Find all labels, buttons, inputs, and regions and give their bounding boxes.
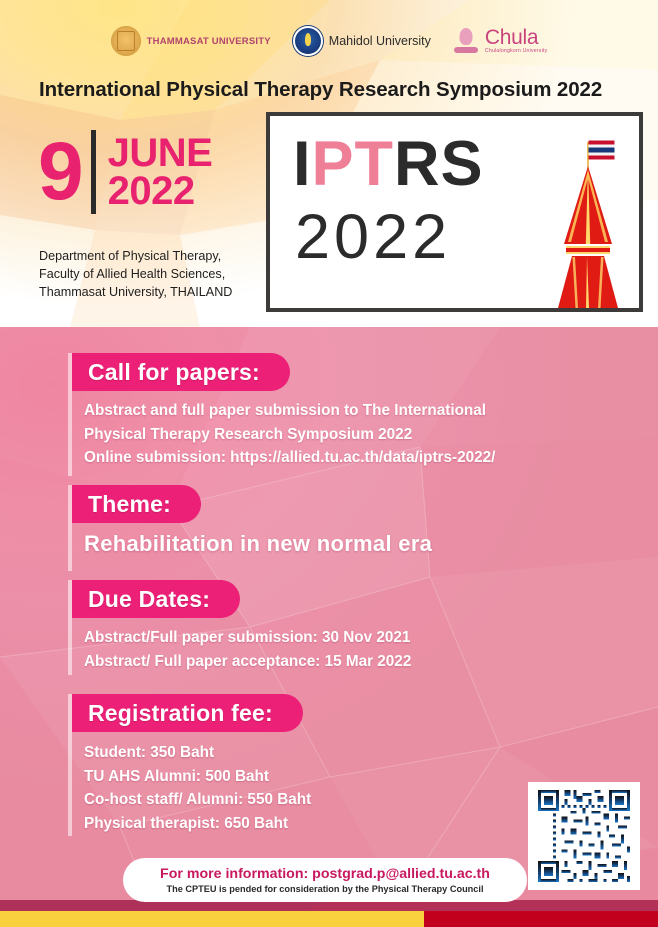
due-date-submission: Abstract/Full paper submission: 30 Nov 2… [84, 626, 411, 650]
organizer-block: Department of Physical Therapy, Faculty … [39, 248, 232, 302]
partner-logo-mahidol: Mahidol University [293, 26, 431, 56]
page-title: International Physical Therapy Research … [39, 78, 602, 102]
poster-header: THAMMASAT UNIVERSITY Mahidol University … [0, 0, 658, 327]
contact-footer: For more information: postgrad.p@allied.… [123, 858, 527, 902]
partner-logo-thammasat: THAMMASAT UNIVERSITY [111, 26, 271, 56]
partner-logo-chula: Chula Chulalongkorn University [453, 26, 547, 56]
iptrs-logo-box: IPTRS 2022 [266, 112, 643, 312]
iptrs-acronym-rs: RS [394, 129, 484, 199]
organizer-line: Department of Physical Therapy, [39, 248, 232, 266]
due-date-acceptance: Abstract/ Full paper acceptance: 15 Mar … [84, 650, 411, 674]
fee-student: Student: 350 Baht [84, 741, 311, 765]
section-heading-registration-fee: Registration fee: [72, 694, 303, 732]
section-heading-theme: Theme: [72, 485, 201, 523]
partner-name-thammasat: THAMMASAT UNIVERSITY [147, 36, 271, 47]
date-divider [91, 130, 96, 214]
section-body-due-dates: Abstract/Full paper submission: 30 Nov 2… [84, 626, 411, 673]
section-heading-call-for-papers: Call for papers: [72, 353, 290, 391]
mahidol-seal-icon [293, 26, 323, 56]
bottom-bar-yellow [0, 911, 424, 927]
partner-name-mahidol: Mahidol University [329, 34, 431, 48]
organizer-line: Thammasat University, THAILAND [39, 284, 232, 302]
section-heading-due-dates: Due Dates: [72, 580, 240, 618]
fee-physical-therapist: Physical therapist: 650 Baht [84, 812, 311, 836]
section-heading-label: Call for papers: [88, 359, 260, 386]
partner-name-chula: Chula [485, 27, 547, 48]
event-date: 9 JUNE 2022 [38, 124, 212, 220]
iptrs-acronym-i: I [293, 129, 312, 199]
contact-email-line[interactable]: For more information: postgrad.p@allied.… [160, 866, 490, 882]
iptrs-acronym: IPTRS [293, 133, 484, 196]
section-line: Physical Therapy Research Symposium 2022 [84, 423, 495, 447]
bottom-bar-red [424, 911, 658, 927]
section-heading-label: Due Dates: [88, 586, 210, 613]
thai-pagoda-spire-with-flag-icon [545, 136, 631, 308]
iptrs-year: 2022 [295, 206, 451, 269]
chula-seal-icon [453, 26, 479, 56]
fee-tu-ahs-alumni: TU AHS Alumni: 500 Baht [84, 765, 311, 789]
section-heading-label: Registration fee: [88, 700, 273, 727]
partner-subtitle-chula: Chulalongkorn University [485, 49, 547, 54]
fee-cohost-staff-alumni: Co-host staff/ Alumni: 550 Baht [84, 788, 311, 812]
cpteu-note: The CPTEU is pended for consideration by… [166, 884, 483, 894]
theme-statement: Rehabilitation in new normal era [84, 531, 432, 557]
organizer-line: Faculty of Allied Health Sciences, [39, 266, 232, 284]
partner-logos: THAMMASAT UNIVERSITY Mahidol University … [0, 20, 658, 62]
event-month: JUNE [108, 134, 213, 172]
thammasat-seal-icon [111, 26, 141, 56]
iptrs-acronym-pt: PT [312, 129, 395, 199]
poster-root: THAMMASAT UNIVERSITY Mahidol University … [0, 0, 658, 927]
event-year: 2022 [108, 172, 213, 210]
event-day: 9 [38, 138, 81, 205]
section-line: Abstract and full paper submission to Th… [84, 399, 495, 423]
section-body-registration-fee: Student: 350 Baht TU AHS Alumni: 500 Bah… [84, 741, 311, 836]
registration-qr-code[interactable] [528, 782, 640, 890]
section-heading-label: Theme: [88, 491, 171, 518]
qr-code-icon [533, 787, 635, 885]
submission-url[interactable]: Online submission: https://allied.tu.ac.… [84, 446, 495, 470]
section-body-call-for-papers: Abstract and full paper submission to Th… [84, 399, 495, 470]
